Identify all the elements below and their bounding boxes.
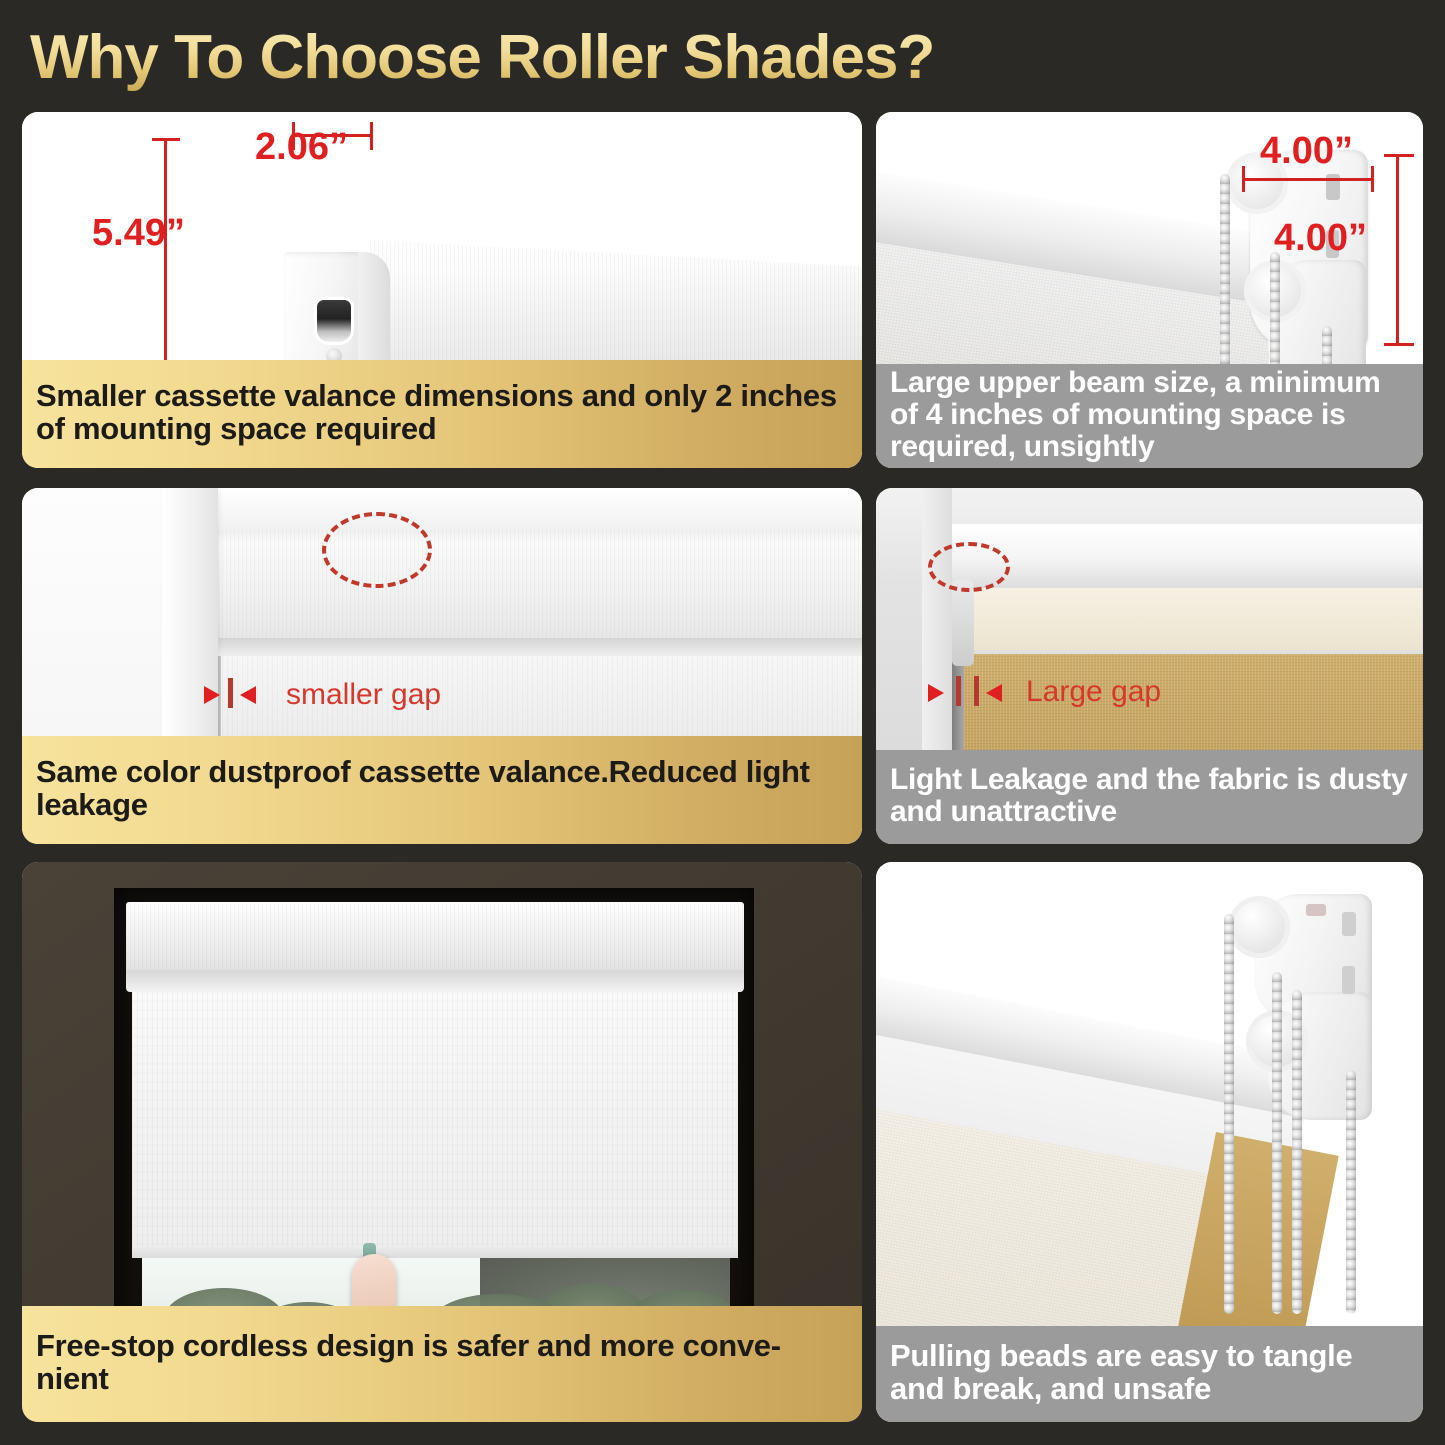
bead-chain-2 [1272, 972, 1282, 1314]
bead-chain-1 [1220, 174, 1230, 370]
highlight-ellipse-icon [928, 542, 1010, 592]
dim-tick-beam-left [1242, 166, 1245, 192]
panel-cordless-design: Free-stop cordless design is safer and m… [22, 862, 862, 1422]
dim-line-beam-height [1396, 156, 1399, 346]
bead-chain-4 [1346, 1070, 1356, 1314]
panel-large-upper-beam: 4.00” 4.00” Large upper beam size, a min… [876, 112, 1423, 468]
bead-chain-3 [1292, 990, 1302, 1314]
header-bar: Why To Choose Roller Shades? [0, 0, 1445, 108]
dim-line-beam-width [1244, 178, 1374, 181]
highlight-ellipse-icon [322, 512, 432, 588]
dimension-beam-width-label: 4.00” [1260, 130, 1353, 173]
dimension-beam-height-label: 4.00” [1274, 217, 1367, 260]
panel-caption: Free-stop cordless design is safer and m… [22, 1306, 862, 1422]
panel-caption: Pulling beads are easy to tangle and bre… [876, 1326, 1423, 1422]
bead-chain-2 [1270, 252, 1280, 372]
page-title: Why To Choose Roller Shades? [30, 22, 934, 93]
panel-caption: Light Leakage and the fabric is dusty an… [876, 750, 1423, 844]
panel-large-gap: Large gap Light Leakage and the fabric i… [876, 488, 1423, 844]
panel-caption: Smaller cassette valance dimensions and … [22, 360, 862, 468]
dim-tick-beam-top [1384, 154, 1414, 157]
dim-tick-top [152, 138, 180, 141]
gap-marker-1 [956, 676, 961, 706]
gap-arrow-right-icon [986, 684, 1002, 702]
panel-smaller-cassette: 2.06” 5.49” Smaller cassette valance dim… [22, 112, 862, 468]
dim-tick-beam-bottom [1384, 343, 1414, 346]
panel-caption: Same color dustproof cassette valance.Re… [22, 736, 862, 844]
panel-pulling-beads: Pulling beads are easy to tangle and bre… [876, 862, 1423, 1422]
gap-arrow-left-icon [928, 684, 944, 702]
gap-arrow-right-icon [240, 686, 256, 704]
bead-chain-1 [1224, 914, 1234, 1314]
panel-smaller-gap: smaller gap Same color dustproof cassett… [22, 488, 862, 844]
gap-label: smaller gap [286, 678, 441, 712]
gap-label: Large gap [1026, 675, 1161, 709]
dimension-height-label: 5.49” [92, 212, 185, 255]
dimension-width-label: 2.06” [255, 126, 348, 169]
dim-tick-right [370, 122, 373, 150]
dim-tick-beam-right [1371, 166, 1374, 192]
gap-arrow-left-icon [204, 686, 220, 704]
gap-marker-2 [974, 676, 979, 706]
panel-caption: Large upper beam size, a minimum of 4 in… [876, 364, 1423, 468]
gap-marker [228, 678, 233, 708]
